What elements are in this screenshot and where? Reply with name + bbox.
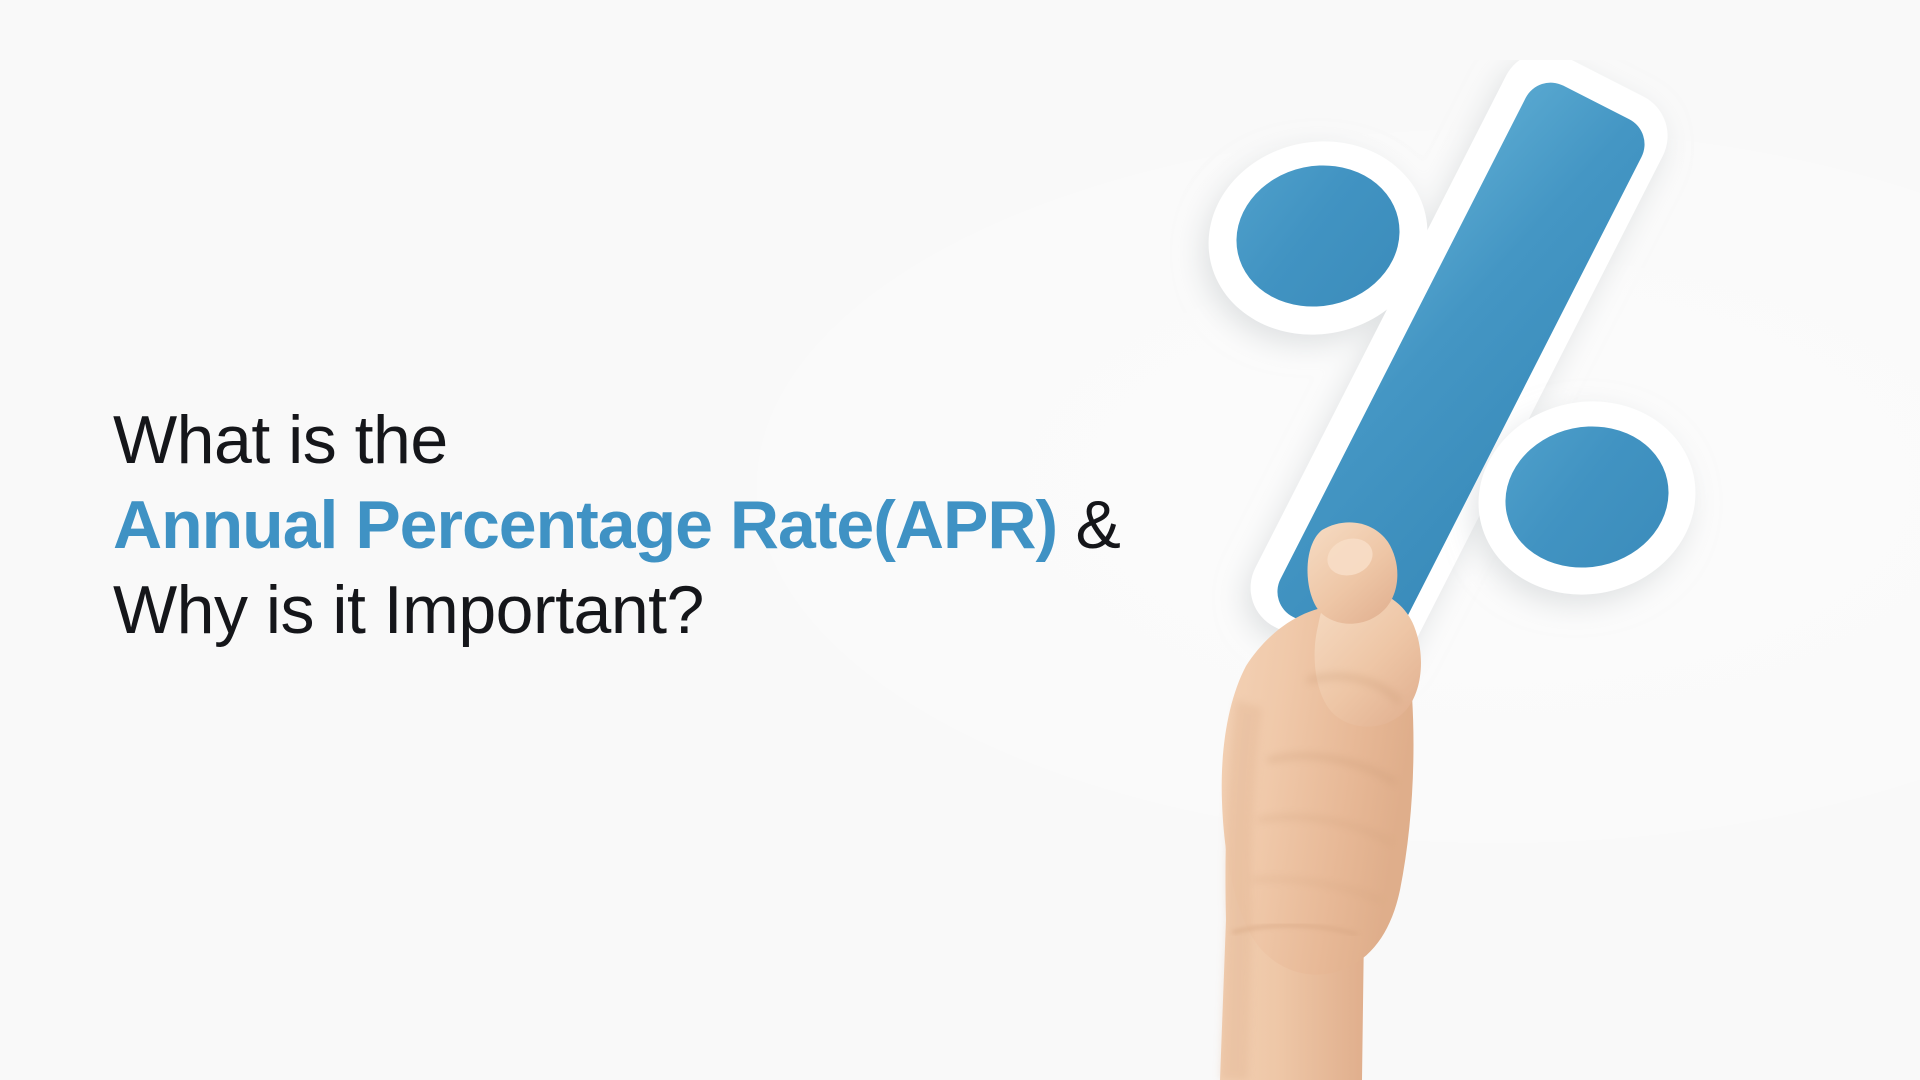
- headline-block: What is the Annual Percentage Rate(APR) …: [113, 398, 1163, 653]
- headline-accent-apr: Annual Percentage Rate(APR): [113, 487, 1057, 563]
- headline-ampersand: &: [1057, 487, 1120, 563]
- headline-line-1: What is the: [113, 398, 1163, 483]
- headline-line-3: Why is it Important?: [113, 568, 1163, 653]
- hero-banner: What is the Annual Percentage Rate(APR) …: [0, 0, 1920, 1080]
- headline-line-2: Annual Percentage Rate(APR) &: [113, 483, 1163, 568]
- percent-sign-artwork: [1150, 60, 1920, 1080]
